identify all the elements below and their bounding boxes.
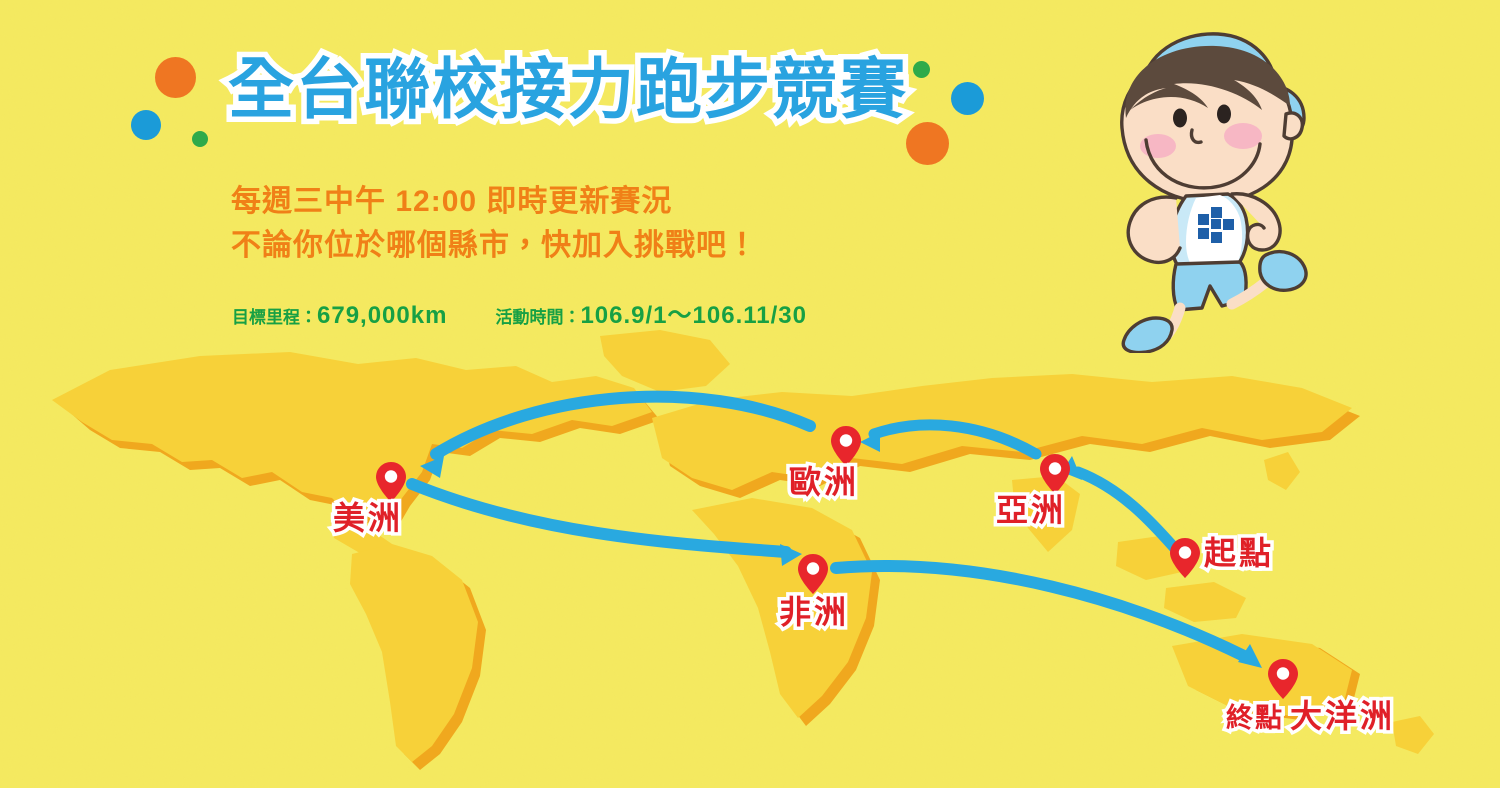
dot-green-left [192, 131, 208, 147]
ear [1284, 113, 1302, 139]
shoe-left [1123, 318, 1172, 353]
map-pin-start[interactable] [1170, 538, 1200, 578]
map-pin-americas[interactable] [376, 462, 406, 502]
page-title: 全台聯校接力跑步競賽 [228, 56, 908, 122]
map-label-americas: 美洲 [333, 502, 403, 534]
subtitle-line-2: 不論你位於哪個縣市，快加入挑戰吧！ [231, 224, 758, 268]
dot-orange-right [906, 122, 949, 165]
cheek-right [1224, 123, 1262, 149]
map-label-oceania: 大洋洲 [1290, 700, 1395, 732]
arrow-start-to-asia [1078, 472, 1178, 552]
map-label-start: 起點 [1204, 537, 1274, 569]
campaign-period-value: 106.9/1～106.11/30 [580, 295, 807, 330]
running-boy-mascot [1080, 18, 1342, 353]
subtitle-block: 每週三中午 12:00 即時更新賽況 不論你位於哪個縣市，快加入挑戰吧！ [231, 180, 758, 268]
map-pin-asia[interactable] [1040, 454, 1070, 494]
campaign-period-label: 活動時間： [495, 303, 580, 328]
map-pin-oceania[interactable] [1268, 659, 1298, 699]
target-distance-label: 目標里程： [232, 303, 317, 328]
campaign-meta: 目標里程： 679,000km 活動時間： 106.9/1～106.11/30 [232, 295, 807, 330]
target-distance: 目標里程： 679,000km [232, 302, 447, 330]
map-pin-europe[interactable] [831, 426, 861, 466]
dot-green-right [913, 61, 930, 78]
campaign-period: 活動時間： 106.9/1～106.11/30 [495, 295, 807, 330]
dot-orange-left [155, 57, 196, 98]
map-label-europe: 歐洲 [789, 466, 859, 498]
map-label-finish: 終點 [1226, 705, 1284, 732]
map-label-africa: 非洲 [779, 596, 849, 628]
eye-right [1217, 105, 1231, 124]
dot-blue-right [951, 82, 984, 115]
map-pin-africa[interactable] [798, 554, 828, 594]
map-label-oceania-group: 終點 大洋洲 [1226, 700, 1395, 732]
target-distance-value: 679,000km [317, 302, 447, 330]
campaign-banner: 全台聯校接力跑步競賽 每週三中午 12:00 即時更新賽況 不論你位於哪個縣市，… [0, 0, 1500, 788]
shoe-right [1260, 252, 1306, 291]
arm-left [1128, 197, 1180, 262]
map-label-asia: 亞洲 [996, 494, 1066, 526]
main-title-text: 全台聯校接力跑步競賽 [228, 56, 908, 122]
dot-blue-left [131, 110, 161, 140]
eye-left [1173, 109, 1187, 128]
subtitle-line-1: 每週三中午 12:00 即時更新賽況 [231, 180, 758, 224]
